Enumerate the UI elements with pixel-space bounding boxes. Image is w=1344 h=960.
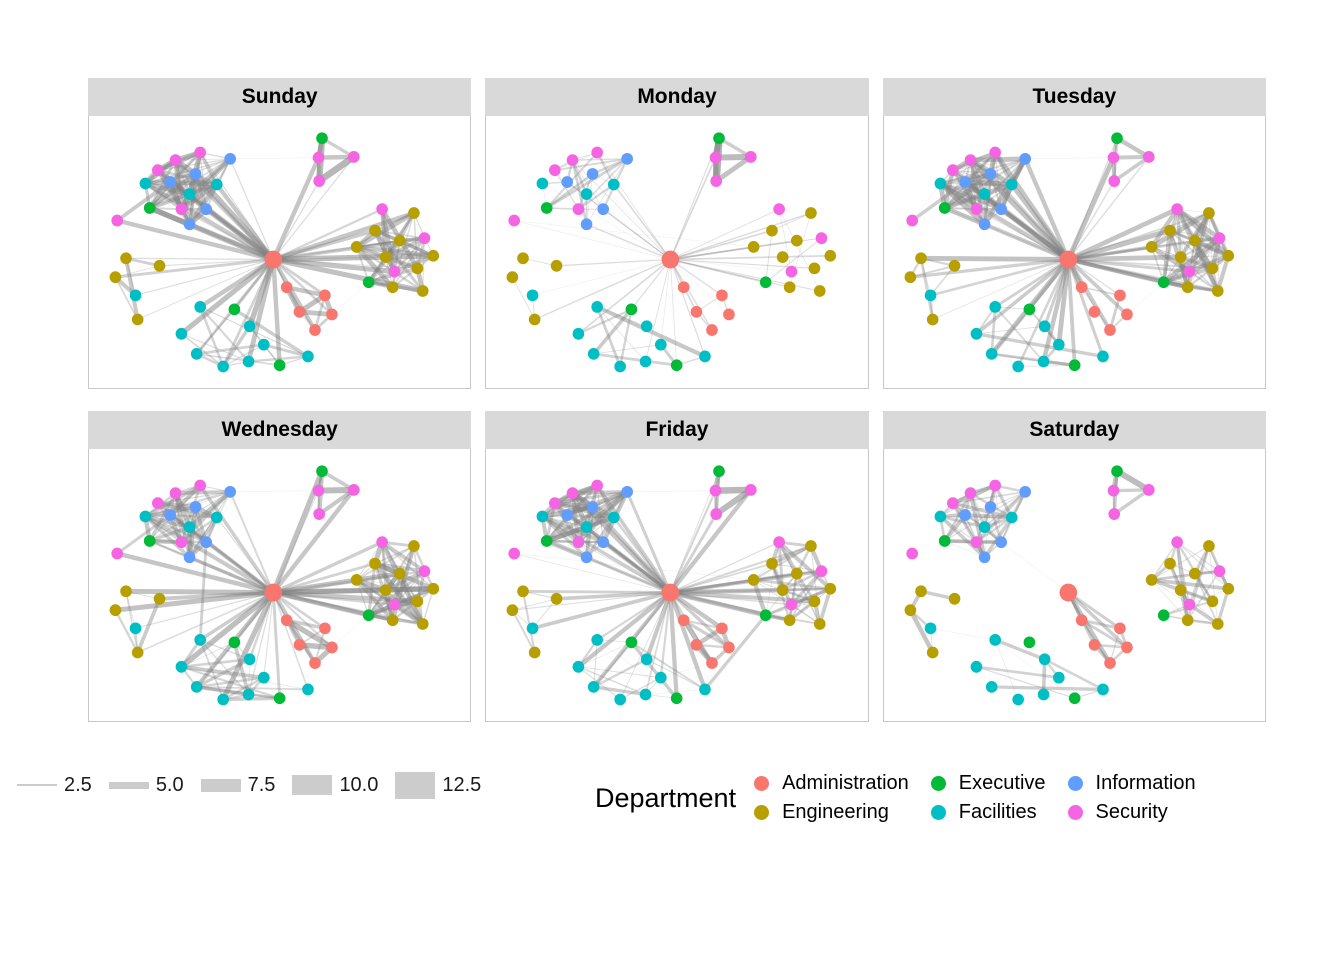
- network-node[interactable]: [970, 661, 982, 673]
- network-node[interactable]: [1097, 351, 1109, 363]
- network-node[interactable]: [671, 692, 683, 704]
- network-node[interactable]: [518, 585, 530, 597]
- network-node[interactable]: [412, 262, 424, 274]
- network-node[interactable]: [380, 251, 392, 263]
- network-node[interactable]: [419, 232, 431, 244]
- network-node[interactable]: [527, 622, 539, 634]
- network-node[interactable]: [408, 207, 420, 219]
- network-node[interactable]: [587, 168, 599, 180]
- network-node[interactable]: [417, 285, 429, 297]
- network-node[interactable]: [986, 348, 998, 360]
- network-node[interactable]: [1174, 584, 1186, 596]
- network-node[interactable]: [939, 202, 951, 214]
- network-node[interactable]: [573, 328, 585, 340]
- network-node[interactable]: [760, 609, 772, 621]
- network-node[interactable]: [265, 584, 283, 602]
- network-node[interactable]: [551, 260, 563, 272]
- network-node[interactable]: [302, 684, 314, 696]
- network-node[interactable]: [567, 154, 579, 166]
- network-node[interactable]: [164, 176, 176, 188]
- network-node[interactable]: [641, 653, 653, 665]
- network-node[interactable]: [200, 536, 212, 548]
- network-node[interactable]: [691, 639, 703, 651]
- network-node[interactable]: [549, 164, 561, 176]
- network-node[interactable]: [211, 179, 223, 191]
- network-node[interactable]: [164, 509, 176, 521]
- network-node[interactable]: [786, 599, 798, 611]
- network-node[interactable]: [641, 320, 653, 332]
- network-node[interactable]: [825, 250, 837, 262]
- network-node[interactable]: [1121, 642, 1133, 654]
- network-node[interactable]: [1182, 614, 1194, 626]
- network-node[interactable]: [154, 593, 166, 605]
- network-node[interactable]: [767, 558, 779, 570]
- network-node[interactable]: [748, 574, 760, 586]
- network-node[interactable]: [1107, 485, 1119, 497]
- network-node[interactable]: [970, 203, 982, 215]
- network-node[interactable]: [711, 508, 723, 520]
- network-node[interactable]: [915, 585, 927, 597]
- network-node[interactable]: [1212, 618, 1224, 630]
- network-node[interactable]: [598, 203, 610, 215]
- network-node[interactable]: [562, 509, 574, 521]
- network-node[interactable]: [640, 689, 652, 701]
- network-node[interactable]: [294, 639, 306, 651]
- network-node[interactable]: [784, 281, 796, 293]
- network-node[interactable]: [243, 356, 255, 368]
- network-node[interactable]: [978, 188, 990, 200]
- network-node[interactable]: [200, 203, 212, 215]
- network-node[interactable]: [1203, 207, 1215, 219]
- network-node[interactable]: [111, 215, 123, 227]
- network-node[interactable]: [326, 309, 338, 321]
- network-node[interactable]: [351, 574, 363, 586]
- network-node[interactable]: [144, 202, 156, 214]
- network-node[interactable]: [1023, 636, 1035, 648]
- network-node[interactable]: [1213, 565, 1225, 577]
- network-node[interactable]: [699, 684, 711, 696]
- network-node[interactable]: [274, 692, 286, 704]
- network-node[interactable]: [363, 276, 375, 288]
- network-node[interactable]: [716, 289, 728, 301]
- network-node[interactable]: [655, 339, 667, 351]
- network-node[interactable]: [274, 359, 286, 371]
- network-node[interactable]: [1114, 622, 1126, 634]
- network-node[interactable]: [427, 250, 439, 262]
- network-node[interactable]: [989, 301, 1001, 313]
- network-node[interactable]: [1203, 540, 1215, 552]
- network-node[interactable]: [140, 511, 152, 523]
- panel-sunday[interactable]: [88, 116, 471, 389]
- network-node[interactable]: [313, 485, 325, 497]
- network-node[interactable]: [348, 151, 360, 163]
- network-node[interactable]: [592, 147, 604, 159]
- network-node[interactable]: [567, 487, 579, 499]
- network-node[interactable]: [924, 622, 936, 634]
- network-node[interactable]: [710, 485, 722, 497]
- network-node[interactable]: [986, 681, 998, 693]
- network-node[interactable]: [745, 484, 757, 496]
- network-node[interactable]: [176, 661, 188, 673]
- network-node[interactable]: [527, 289, 539, 301]
- network-node[interactable]: [710, 152, 722, 164]
- network-node[interactable]: [258, 672, 270, 684]
- department-legend-item-administration[interactable]: Administration: [754, 772, 909, 795]
- network-node[interactable]: [1088, 639, 1100, 651]
- network-node[interactable]: [229, 636, 241, 648]
- network-node[interactable]: [140, 178, 152, 190]
- network-node[interactable]: [714, 132, 726, 144]
- network-node[interactable]: [791, 235, 803, 247]
- network-node[interactable]: [948, 260, 960, 272]
- network-node[interactable]: [152, 164, 164, 176]
- network-node[interactable]: [154, 260, 166, 272]
- network-node[interactable]: [784, 614, 796, 626]
- network-node[interactable]: [1213, 232, 1225, 244]
- network-node[interactable]: [1088, 306, 1100, 318]
- network-node[interactable]: [551, 593, 563, 605]
- network-node[interactable]: [281, 281, 293, 293]
- network-node[interactable]: [1171, 203, 1183, 215]
- network-node[interactable]: [507, 604, 519, 616]
- network-node[interactable]: [608, 512, 620, 524]
- network-node[interactable]: [691, 306, 703, 318]
- network-node[interactable]: [809, 262, 821, 274]
- network-node[interactable]: [1012, 694, 1024, 706]
- network-node[interactable]: [144, 535, 156, 547]
- network-node[interactable]: [1097, 684, 1109, 696]
- department-legend-item-executive[interactable]: Executive: [931, 772, 1046, 795]
- network-node[interactable]: [319, 622, 331, 634]
- network-node[interactable]: [313, 175, 325, 187]
- network-node[interactable]: [1012, 361, 1024, 373]
- network-node[interactable]: [1158, 609, 1170, 621]
- network-node[interactable]: [1108, 508, 1120, 520]
- network-node[interactable]: [130, 622, 142, 634]
- network-node[interactable]: [176, 203, 188, 215]
- network-node[interactable]: [934, 511, 946, 523]
- network-node[interactable]: [581, 551, 593, 563]
- panel-saturday[interactable]: [883, 449, 1266, 722]
- network-node[interactable]: [581, 188, 593, 200]
- network-node[interactable]: [592, 634, 604, 646]
- network-node[interactable]: [176, 328, 188, 340]
- network-node[interactable]: [774, 536, 786, 548]
- network-node[interactable]: [1039, 320, 1051, 332]
- network-node[interactable]: [1145, 574, 1157, 586]
- network-node[interactable]: [152, 497, 164, 509]
- network-node[interactable]: [598, 536, 610, 548]
- network-node[interactable]: [626, 636, 638, 648]
- network-node[interactable]: [714, 465, 726, 477]
- network-node[interactable]: [1189, 568, 1201, 580]
- network-node[interactable]: [978, 218, 990, 230]
- network-node[interactable]: [1006, 512, 1018, 524]
- network-node[interactable]: [244, 653, 256, 665]
- network-node[interactable]: [948, 593, 960, 605]
- network-node[interactable]: [915, 252, 927, 264]
- network-node[interactable]: [190, 501, 202, 513]
- network-node[interactable]: [959, 176, 971, 188]
- network-node[interactable]: [573, 203, 585, 215]
- network-node[interactable]: [970, 536, 982, 548]
- network-node[interactable]: [626, 303, 638, 315]
- network-node[interactable]: [369, 225, 381, 237]
- network-node[interactable]: [989, 634, 1001, 646]
- network-node[interactable]: [184, 551, 196, 563]
- network-node[interactable]: [326, 642, 338, 654]
- network-node[interactable]: [786, 266, 798, 278]
- network-node[interactable]: [316, 132, 328, 144]
- department-legend-item-facilities[interactable]: Facilities: [931, 801, 1046, 824]
- network-node[interactable]: [1121, 309, 1133, 321]
- network-node[interactable]: [229, 303, 241, 315]
- network-node[interactable]: [1037, 689, 1049, 701]
- network-node[interactable]: [1037, 356, 1049, 368]
- network-node[interactable]: [767, 225, 779, 237]
- network-node[interactable]: [678, 614, 690, 626]
- panel-friday[interactable]: [485, 449, 868, 722]
- network-node[interactable]: [191, 681, 203, 693]
- network-node[interactable]: [608, 179, 620, 191]
- network-node[interactable]: [906, 548, 918, 560]
- network-node[interactable]: [217, 361, 229, 373]
- network-node[interactable]: [947, 164, 959, 176]
- network-node[interactable]: [791, 568, 803, 580]
- network-node[interactable]: [265, 251, 283, 269]
- network-node[interactable]: [529, 314, 541, 326]
- network-node[interactable]: [211, 512, 223, 524]
- network-node[interactable]: [816, 232, 828, 244]
- network-node[interactable]: [984, 501, 996, 513]
- network-node[interactable]: [194, 634, 206, 646]
- network-node[interactable]: [814, 618, 826, 630]
- network-node[interactable]: [224, 153, 236, 165]
- network-node[interactable]: [655, 672, 667, 684]
- network-node[interactable]: [934, 178, 946, 190]
- network-node[interactable]: [777, 584, 789, 596]
- network-node[interactable]: [1189, 235, 1201, 247]
- network-node[interactable]: [319, 289, 331, 301]
- network-node[interactable]: [588, 681, 600, 693]
- network-node[interactable]: [1183, 266, 1195, 278]
- network-node[interactable]: [1069, 359, 1081, 371]
- network-node[interactable]: [1212, 285, 1224, 297]
- network-node[interactable]: [351, 241, 363, 253]
- network-node[interactable]: [777, 251, 789, 263]
- panel-tuesday[interactable]: [883, 116, 1266, 389]
- network-node[interactable]: [258, 339, 270, 351]
- network-node[interactable]: [348, 484, 360, 496]
- network-node[interactable]: [622, 486, 634, 498]
- network-node[interactable]: [1006, 179, 1018, 191]
- network-node[interactable]: [369, 558, 381, 570]
- network-node[interactable]: [313, 508, 325, 520]
- network-node[interactable]: [711, 175, 723, 187]
- network-node[interactable]: [281, 614, 293, 626]
- network-node[interactable]: [1107, 152, 1119, 164]
- network-node[interactable]: [814, 285, 826, 297]
- network-node[interactable]: [394, 235, 406, 247]
- network-node[interactable]: [927, 647, 939, 659]
- network-node[interactable]: [509, 548, 521, 560]
- network-node[interactable]: [805, 207, 817, 219]
- network-node[interactable]: [699, 351, 711, 363]
- network-node[interactable]: [120, 585, 132, 597]
- network-node[interactable]: [184, 218, 196, 230]
- network-node[interactable]: [529, 647, 541, 659]
- network-node[interactable]: [309, 657, 321, 669]
- network-node[interactable]: [132, 647, 144, 659]
- network-node[interactable]: [427, 583, 439, 595]
- network-node[interactable]: [294, 306, 306, 318]
- network-node[interactable]: [194, 147, 206, 159]
- network-node[interactable]: [588, 348, 600, 360]
- network-node[interactable]: [573, 661, 585, 673]
- network-node[interactable]: [190, 168, 202, 180]
- network-node[interactable]: [302, 351, 314, 363]
- network-node[interactable]: [217, 694, 229, 706]
- network-node[interactable]: [1206, 595, 1218, 607]
- network-node[interactable]: [774, 203, 786, 215]
- network-node[interactable]: [1076, 614, 1088, 626]
- network-node[interactable]: [760, 276, 772, 288]
- network-node[interactable]: [549, 497, 561, 509]
- network-node[interactable]: [376, 536, 388, 548]
- network-node[interactable]: [1111, 465, 1123, 477]
- panel-monday[interactable]: [485, 116, 868, 389]
- network-node[interactable]: [1164, 225, 1176, 237]
- network-node[interactable]: [120, 252, 132, 264]
- network-node[interactable]: [1164, 558, 1176, 570]
- network-node[interactable]: [509, 215, 521, 227]
- network-node[interactable]: [716, 622, 728, 634]
- network-node[interactable]: [1108, 175, 1120, 187]
- network-node[interactable]: [389, 599, 401, 611]
- network-node[interactable]: [132, 314, 144, 326]
- network-node[interactable]: [1222, 250, 1234, 262]
- network-node[interactable]: [541, 202, 553, 214]
- network-node[interactable]: [394, 568, 406, 580]
- network-node[interactable]: [671, 359, 683, 371]
- network-node[interactable]: [1143, 484, 1155, 496]
- network-node[interactable]: [243, 689, 255, 701]
- network-node[interactable]: [111, 548, 123, 560]
- network-node[interactable]: [622, 153, 634, 165]
- network-node[interactable]: [376, 203, 388, 215]
- network-node[interactable]: [380, 584, 392, 596]
- network-node[interactable]: [170, 487, 182, 499]
- network-node[interactable]: [191, 348, 203, 360]
- network-node[interactable]: [184, 188, 196, 200]
- network-node[interactable]: [1114, 289, 1126, 301]
- network-node[interactable]: [809, 595, 821, 607]
- network-node[interactable]: [615, 361, 627, 373]
- network-node[interactable]: [825, 583, 837, 595]
- network-node[interactable]: [927, 314, 939, 326]
- network-node[interactable]: [1143, 151, 1155, 163]
- network-node[interactable]: [970, 328, 982, 340]
- network-node[interactable]: [662, 584, 680, 602]
- network-node[interactable]: [995, 536, 1007, 548]
- network-node[interactable]: [1053, 672, 1065, 684]
- network-node[interactable]: [408, 540, 420, 552]
- network-node[interactable]: [984, 168, 996, 180]
- network-node[interactable]: [581, 521, 593, 533]
- network-node[interactable]: [1023, 303, 1035, 315]
- network-node[interactable]: [805, 540, 817, 552]
- network-node[interactable]: [417, 618, 429, 630]
- network-node[interactable]: [313, 152, 325, 164]
- network-node[interactable]: [678, 281, 690, 293]
- network-node[interactable]: [904, 604, 916, 616]
- network-node[interactable]: [706, 324, 718, 336]
- network-node[interactable]: [723, 642, 735, 654]
- network-node[interactable]: [1069, 692, 1081, 704]
- network-node[interactable]: [224, 486, 236, 498]
- network-node[interactable]: [592, 480, 604, 492]
- network-node[interactable]: [387, 281, 399, 293]
- network-node[interactable]: [592, 301, 604, 313]
- network-node[interactable]: [1059, 584, 1077, 602]
- network-node[interactable]: [110, 604, 122, 616]
- network-node[interactable]: [363, 609, 375, 621]
- network-node[interactable]: [1111, 132, 1123, 144]
- network-node[interactable]: [518, 252, 530, 264]
- network-node[interactable]: [562, 176, 574, 188]
- network-node[interactable]: [1076, 281, 1088, 293]
- network-node[interactable]: [130, 289, 142, 301]
- network-node[interactable]: [309, 324, 321, 336]
- panel-wednesday[interactable]: [88, 449, 471, 722]
- network-node[interactable]: [419, 565, 431, 577]
- network-node[interactable]: [1183, 599, 1195, 611]
- network-node[interactable]: [745, 151, 757, 163]
- network-node[interactable]: [989, 480, 1001, 492]
- network-node[interactable]: [924, 289, 936, 301]
- network-node[interactable]: [816, 565, 828, 577]
- network-node[interactable]: [170, 154, 182, 166]
- network-node[interactable]: [1019, 486, 1031, 498]
- network-node[interactable]: [1145, 241, 1157, 253]
- network-node[interactable]: [1222, 583, 1234, 595]
- network-node[interactable]: [748, 241, 760, 253]
- network-node[interactable]: [1174, 251, 1186, 263]
- department-legend-item-information[interactable]: Information: [1068, 772, 1196, 795]
- network-node[interactable]: [184, 521, 196, 533]
- network-node[interactable]: [947, 497, 959, 509]
- network-node[interactable]: [387, 614, 399, 626]
- network-node[interactable]: [573, 536, 585, 548]
- network-node[interactable]: [706, 657, 718, 669]
- network-node[interactable]: [1182, 281, 1194, 293]
- network-node[interactable]: [1206, 262, 1218, 274]
- network-node[interactable]: [995, 203, 1007, 215]
- network-node[interactable]: [176, 536, 188, 548]
- network-node[interactable]: [904, 271, 916, 283]
- network-node[interactable]: [537, 511, 549, 523]
- network-node[interactable]: [194, 480, 206, 492]
- network-node[interactable]: [541, 535, 553, 547]
- network-node[interactable]: [959, 509, 971, 521]
- network-node[interactable]: [537, 178, 549, 190]
- network-node[interactable]: [110, 271, 122, 283]
- network-node[interactable]: [978, 521, 990, 533]
- network-node[interactable]: [1104, 657, 1116, 669]
- department-legend-item-engineering[interactable]: Engineering: [754, 801, 909, 824]
- network-node[interactable]: [723, 309, 735, 321]
- network-node[interactable]: [194, 301, 206, 313]
